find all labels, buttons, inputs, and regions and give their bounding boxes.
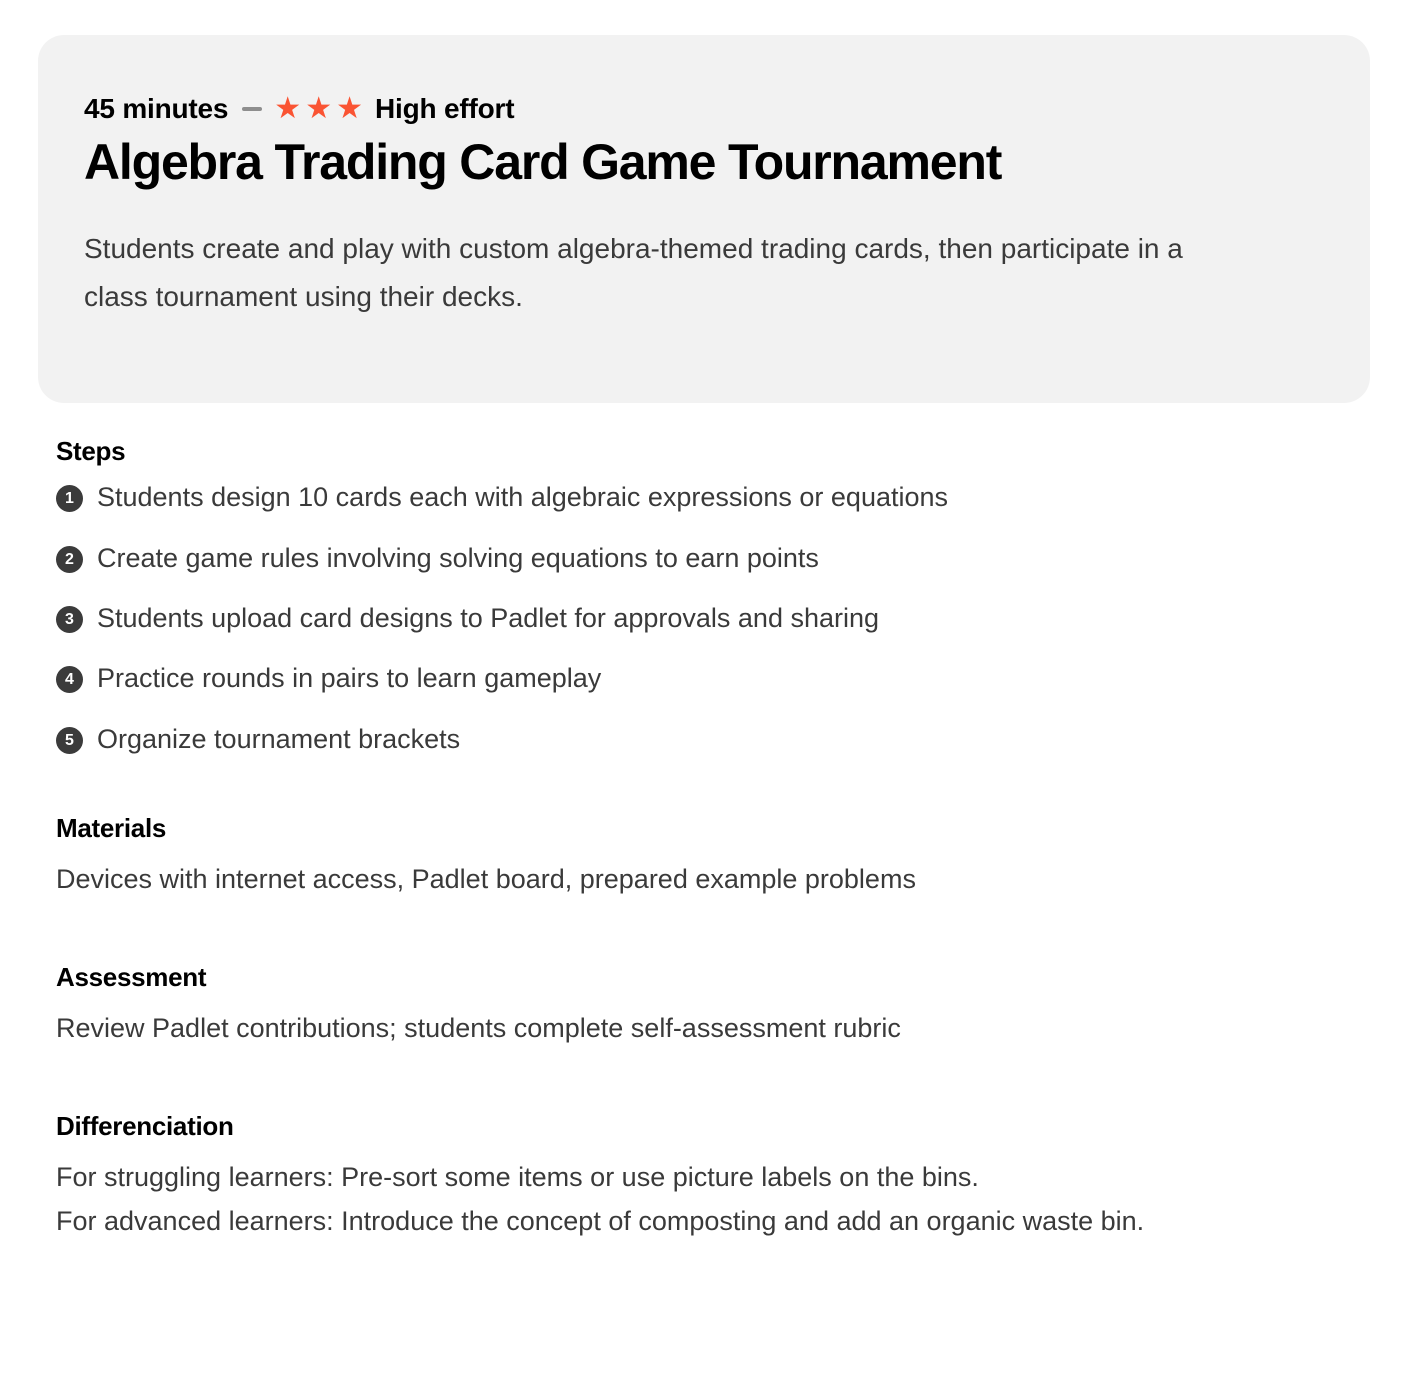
spacer <box>56 1051 1356 1111</box>
step-text: Create game rules involving solving equa… <box>97 542 1356 574</box>
lesson-meta-row: 45 minutes ★ ★ ★ High effort <box>84 91 1324 127</box>
step-text: Organize tournament brackets <box>97 723 1356 755</box>
differenciation-line-advanced: For advanced learners: Introduce the con… <box>56 1206 1144 1236</box>
section-assessment: Assessment Review Padlet contributions; … <box>56 962 1356 1051</box>
step-text: Practice rounds in pairs to learn gamepl… <box>97 662 1356 694</box>
lesson-sections: Steps 1 Students design 10 cards each wi… <box>56 436 1356 1244</box>
duration-label: 45 minutes <box>84 93 228 125</box>
assessment-body: Review Padlet contributions; students co… <box>56 1007 1356 1051</box>
differenciation-heading: Differenciation <box>56 1111 1356 1142</box>
differenciation-body: For struggling learners: Pre-sort some i… <box>56 1156 1356 1243</box>
section-steps: Steps 1 Students design 10 cards each wi… <box>56 436 1356 755</box>
star-icon: ★ <box>305 94 332 124</box>
star-icon: ★ <box>274 94 301 124</box>
effort-label: High effort <box>375 93 514 125</box>
star-icon: ★ <box>336 94 363 124</box>
step-text: Students design 10 cards each with algeb… <box>97 481 1356 513</box>
spacer <box>56 755 1356 813</box>
section-materials: Materials Devices with internet access, … <box>56 813 1356 902</box>
materials-heading: Materials <box>56 813 1356 844</box>
lesson-description: Students create and play with custom alg… <box>84 225 1254 321</box>
page-title: Algebra Trading Card Game Tournament <box>84 133 1324 191</box>
section-differenciation: Differenciation For struggling learners:… <box>56 1111 1356 1244</box>
step-text: Students upload card designs to Padlet f… <box>97 602 1356 634</box>
list-item: 1 Students design 10 cards each with alg… <box>56 481 1356 513</box>
step-number-badge: 5 <box>56 727 83 754</box>
list-item: 5 Organize tournament brackets <box>56 723 1356 755</box>
list-item: 4 Practice rounds in pairs to learn game… <box>56 662 1356 694</box>
steps-heading: Steps <box>56 436 1356 467</box>
step-number-badge: 1 <box>56 485 83 512</box>
spacer <box>56 902 1356 962</box>
materials-body: Devices with internet access, Padlet boa… <box>56 858 1356 902</box>
list-item: 2 Create game rules involving solving eq… <box>56 542 1356 574</box>
step-number-badge: 2 <box>56 546 83 573</box>
effort-star-rating: ★ ★ ★ <box>274 94 363 124</box>
step-number-badge: 3 <box>56 606 83 633</box>
step-number-badge: 4 <box>56 666 83 693</box>
differenciation-line-struggling: For struggling learners: Pre-sort some i… <box>56 1156 1356 1200</box>
dash-icon <box>242 107 262 111</box>
steps-list: 1 Students design 10 cards each with alg… <box>56 481 1356 755</box>
lesson-hero-card: 45 minutes ★ ★ ★ High effort Algebra Tra… <box>38 35 1370 403</box>
lesson-plan-page: 45 minutes ★ ★ ★ High effort Algebra Tra… <box>0 0 1408 1400</box>
assessment-heading: Assessment <box>56 962 1356 993</box>
list-item: 3 Students upload card designs to Padlet… <box>56 602 1356 634</box>
